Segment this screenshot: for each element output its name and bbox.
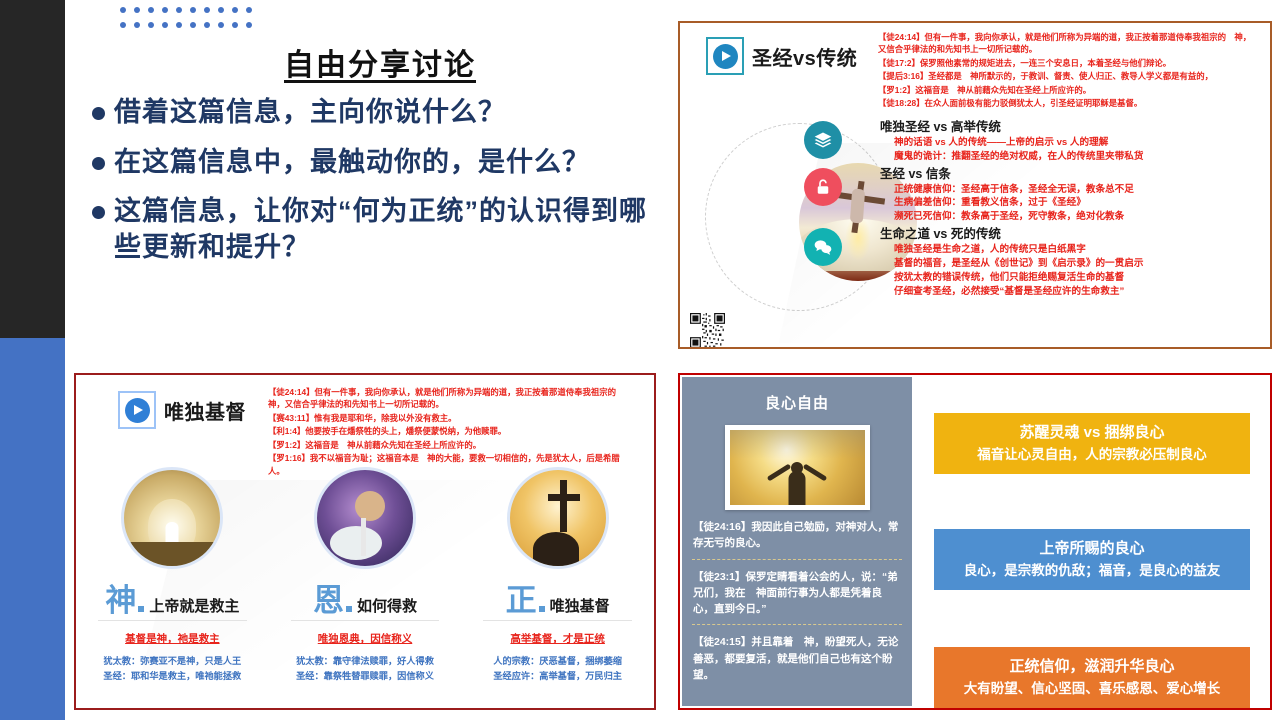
- divider: [483, 620, 632, 621]
- doctrine-detail-line: 圣经：耶和华是救主，唯祂能拯救: [76, 669, 269, 684]
- decorative-dot: [232, 22, 238, 28]
- doctrine-column: 神上帝就是救主基督是神，祂是救主犹太教：弥赛亚不是神，只是人王圣经：耶和华是救主…: [76, 467, 269, 684]
- callout-group: 苏醒灵魂 vs 捆绑良心福音让心灵自由，人的宗教必压制良心上帝所赐的良心良心，是…: [914, 377, 1268, 706]
- doctrine-big-char: 神: [105, 585, 136, 616]
- doctrine-detail-line: 圣经应许：高举基督，万民归主: [461, 669, 654, 684]
- verse-line: 【徒24:16】我因此自己勉励，对神对人，常存无亏的良心。: [682, 510, 912, 559]
- comparison-item-list: 唯独圣经 vs 高举传统神的话语 vs 人的传统——上帝的启示 vs 人的理解魔…: [880, 119, 1272, 301]
- comparison-item: 唯独圣经 vs 高举传统神的话语 vs 人的传统——上帝的启示 vs 人的理解魔…: [880, 119, 1272, 164]
- doctrine-caption: 神上帝就是救主: [76, 585, 269, 616]
- comparison-item-title: 生命之道 vs 死的传统: [880, 226, 1272, 243]
- decorative-dot: [162, 22, 168, 28]
- comparison-line: 魔鬼的诡计：推翻圣经的绝对权威，在人的传统里夹带私货: [894, 150, 1272, 164]
- panel-freedom-of-conscience: 良心自由 【徒24:16】我因此自己勉励，对神对人，常存无亏的良心。【徒23:1…: [678, 373, 1272, 710]
- panel-title: 良心自由: [682, 377, 912, 413]
- doctrine-big-char: 恩: [313, 585, 344, 616]
- panel-scripture-vs-tradition: 圣经vs传统 【徒24:14】但有一件事，我向你承认，就是他们所称为异端的道，我…: [678, 21, 1272, 349]
- sidebar-dark-band: [0, 0, 65, 338]
- divider: [291, 620, 440, 621]
- decorative-dot: [162, 7, 168, 13]
- comparison-line: 正统健康信仰：圣经高于信条，圣经全无误，教条总不足: [894, 183, 1272, 197]
- verse-line: 【徒17:2】保罗照他素常的规矩进去，一连三个安息日，本着圣经与他们辩论。: [878, 57, 1256, 69]
- empty-tomb-photo: [121, 467, 223, 569]
- panel-christ-alone: 唯独基督 【徒24:14】但有一件事，我向你承认，就是他们所称为异端的道，我正按…: [74, 373, 656, 710]
- three-column-group: 神上帝就是救主基督是神，祂是救主犹太教：弥赛亚不是神，只是人王圣经：耶和华是救主…: [76, 467, 654, 684]
- decorative-dot: [148, 22, 154, 28]
- callout-title: 上帝所赐的良心: [940, 538, 1244, 561]
- comparison-line: 神的话语 vs 人的传统——上帝的启示 vs 人的理解: [894, 136, 1272, 150]
- doctrine-big-char: 正: [506, 585, 537, 616]
- decorative-dot: [176, 7, 182, 13]
- comparison-line: 濒死已死信仰：教条高于圣经，死守教条，绝对化教条: [894, 210, 1272, 224]
- comparison-line: 按犹太教的错误传统，他们只能拒绝赐复活生命的基督: [894, 271, 1272, 285]
- doctrine-detail-lines: 人的宗教：厌恶基督，捆绑萎缩圣经应许：高举基督，万民归主: [461, 654, 654, 684]
- verse-line: 【罗1:2】这福音是 神从前藉众先知在圣经上所应许的。: [268, 439, 636, 451]
- doctrine-detail-line: 人的宗教：厌恶基督，捆绑萎缩: [461, 654, 654, 669]
- kneeling-at-cross-photo: [507, 467, 609, 569]
- decorative-dot: [204, 7, 210, 13]
- decorative-dot: [204, 22, 210, 28]
- decorative-dot: [246, 7, 252, 13]
- bullet-list: 借着这篇信息，主向你说什么？ 在这篇信息中，最触动你的，是什么？ 这篇信息，让你…: [92, 95, 652, 280]
- panel-header: 圣经vs传统: [706, 37, 857, 75]
- panel-header: 唯独基督: [118, 391, 246, 429]
- callout-title: 正统信仰，滋润升华良心: [940, 656, 1244, 679]
- verse-line: 【赛43:11】惟有我是耶和华，除我以外没有救主。: [268, 412, 636, 424]
- verse-line: 【利1:4】他要按手在燔祭牲的头上，燔祭便蒙悦纳，为他赎罪。: [268, 425, 636, 437]
- verse-line: 【徒24:15】并且靠着 神，盼望死人，无论善恶，都要复活，就是他们自己也有这个…: [682, 625, 912, 690]
- verse-line: 【徒24:14】但有一件事，我向你承认，就是他们所称为异端的道，我正按着那道侍奉…: [878, 31, 1256, 56]
- square-bullet-icon: [138, 606, 144, 612]
- square-bullet-icon: [539, 606, 545, 612]
- comparison-item-title: 唯独圣经 vs 高举传统: [880, 119, 1272, 136]
- bullet-text: 在这篇信息中，最触动你的，是什么？: [114, 145, 590, 181]
- doctrine-detail-lines: 犹太教：靠守律法赎罪，好人得救圣经：靠祭牲替罪赎罪，因信称义: [269, 654, 462, 684]
- doctrine-highlight: 唯独恩典，因信称义: [269, 631, 462, 646]
- layers-icon: [804, 121, 842, 159]
- unlock-icon: [804, 168, 842, 206]
- doctrine-caption: 恩如何得救: [269, 585, 462, 616]
- doctrine-detail-lines: 犹太教：弥赛亚不是神，只是人王圣经：耶和华是救主，唯祂能拯救: [76, 654, 269, 684]
- play-button-icon: [706, 37, 744, 75]
- comparison-line: 唯独圣经是生命之道，人的传统只是白纸黑字: [894, 243, 1272, 257]
- doctrine-detail-line: 犹太教：靠守律法赎罪，好人得救: [269, 654, 462, 669]
- doctrine-subtitle: 唯独基督: [550, 595, 610, 616]
- page-title: 自由分享讨论: [120, 40, 640, 84]
- square-bullet-icon: [346, 606, 352, 612]
- slide-canvas: 自由分享讨论 借着这篇信息，主向你说什么？ 在这篇信息中，最触动你的，是什么？ …: [0, 0, 1280, 720]
- comparison-line: 生病偏差信仰：重看教义信条，过于《圣经》: [894, 196, 1272, 210]
- verse-line: 【提后3:16】圣经都是 神所默示的，于教训、督责、使人归正、教导人学义都是有益…: [878, 70, 1256, 82]
- bullet-text: 这篇信息，让你对“何为正统”的认识得到哪些更新和提升？: [114, 194, 652, 265]
- doctrine-subtitle: 上帝就是救主: [149, 595, 239, 616]
- decorative-dot: [134, 7, 140, 13]
- verse-line: 【徒24:14】但有一件事，我向你承认，就是他们所称为异端的道，我正按着那道侍奉…: [268, 386, 636, 411]
- comparison-item-lines: 神的话语 vs 人的传统——上帝的启示 vs 人的理解魔鬼的诡计：推翻圣经的绝对…: [880, 136, 1272, 164]
- decorative-dot: [120, 22, 126, 28]
- sidebar-blue-band: [0, 338, 65, 720]
- decorative-dot: [232, 7, 238, 13]
- decorative-dot: [218, 22, 224, 28]
- verse-block: 【徒24:16】我因此自己勉励，对神对人，常存无亏的良心。【徒23:1】保罗定睛…: [682, 510, 912, 690]
- bullet-text: 借着这篇信息，主向你说什么？: [114, 95, 506, 131]
- comparison-item: 生命之道 vs 死的传统唯独圣经是生命之道，人的传统只是白纸黑字基督的福音，是圣…: [880, 226, 1272, 299]
- decorative-dot: [176, 22, 182, 28]
- callout-subtitle: 良心，是宗教的仇敌；福音，是良心的益友: [940, 561, 1244, 581]
- comparison-item: 圣经 vs 信条正统健康信仰：圣经高于信条，圣经全无误，教条总不足生病偏差信仰：…: [880, 166, 1272, 225]
- verse-block: 【徒24:14】但有一件事，我向你承认，就是他们所称为异端的道，我正按着那道侍奉…: [878, 31, 1256, 111]
- crucifixion-lamb-photo: [314, 467, 416, 569]
- comparison-item-title: 圣经 vs 信条: [880, 166, 1272, 183]
- doctrine-detail-line: 圣经：靠祭牲替罪赎罪，因信称义: [269, 669, 462, 684]
- doctrine-highlight: 高举基督，才是正统: [461, 631, 654, 646]
- decorative-dot: [120, 7, 126, 13]
- decorative-dot: [148, 7, 154, 13]
- decorative-dot: [218, 7, 224, 13]
- panel-title: 唯独基督: [164, 396, 246, 425]
- comparison-line: 基督的福音，是圣经从《创世记》到《启示录》的一贯启示: [894, 257, 1272, 271]
- comparison-item-lines: 唯独圣经是生命之道，人的传统只是白纸黑字基督的福音，是圣经从《创世记》到《启示录…: [880, 243, 1272, 299]
- list-item: 借着这篇信息，主向你说什么？: [92, 95, 652, 131]
- decorative-dot: [190, 22, 196, 28]
- play-button-icon: [118, 391, 156, 429]
- panel-title: 圣经vs传统: [752, 42, 857, 71]
- doctrine-column: 正唯独基督高举基督，才是正统人的宗教：厌恶基督，捆绑萎缩圣经应许：高举基督，万民…: [461, 467, 654, 684]
- bullet-dot-icon: [92, 157, 105, 170]
- callout-subtitle: 大有盼望、信心坚固、喜乐感恩、爱心增长: [940, 679, 1244, 699]
- doctrine-column: 恩如何得救唯独恩典，因信称义犹太教：靠守律法赎罪，好人得救圣经：靠祭牲替罪赎罪，…: [269, 467, 462, 684]
- callout-box: 上帝所赐的良心良心，是宗教的仇敌；福音，是良心的益友: [934, 529, 1250, 590]
- bullet-dot-icon: [92, 107, 105, 120]
- person-arms-raised-sunrise-photo: [725, 425, 870, 510]
- callout-subtitle: 福音让心灵自由，人的宗教必压制良心: [940, 445, 1244, 465]
- divider: [98, 620, 247, 621]
- verse-block: 【徒24:14】但有一件事，我向你承认，就是他们所称为异端的道，我正按着那道侍奉…: [268, 386, 636, 478]
- callout-box: 正统信仰，滋润升华良心大有盼望、信心坚固、喜乐感恩、爱心增长: [934, 647, 1250, 708]
- list-item: 这篇信息，让你对“何为正统”的认识得到哪些更新和提升？: [92, 194, 652, 265]
- callout-title: 苏醒灵魂 vs 捆绑良心: [940, 422, 1244, 445]
- list-item: 在这篇信息中，最触动你的，是什么？: [92, 145, 652, 181]
- doctrine-subtitle: 如何得救: [357, 595, 417, 616]
- qr-code-icon: [690, 313, 725, 348]
- bullet-dot-icon: [92, 206, 105, 219]
- verse-line: 【徒23:1】保罗定睛看着公会的人，说：“弟兄们，我在 神面前行事为人都是凭着良…: [682, 560, 912, 625]
- comparison-line: 仔细查考圣经，必然接受“基督是圣经应许的生命救主”: [894, 285, 1272, 299]
- doctrine-caption: 正唯独基督: [461, 585, 654, 616]
- dotted-decoration: [120, 7, 254, 37]
- conscience-sidebar: 良心自由 【徒24:16】我因此自己勉励，对神对人，常存无亏的良心。【徒23:1…: [682, 377, 912, 706]
- decorative-dot: [190, 7, 196, 13]
- callout-box: 苏醒灵魂 vs 捆绑良心福音让心灵自由，人的宗教必压制良心: [934, 413, 1250, 474]
- verse-line: 【罗1:2】这福音是 神从前藉众先知在圣经上所应许的。: [878, 84, 1256, 96]
- doctrine-highlight: 基督是神，祂是救主: [76, 631, 269, 646]
- decorative-dot: [134, 22, 140, 28]
- comparison-item-lines: 正统健康信仰：圣经高于信条，圣经全无误，教条总不足生病偏差信仰：重看教义信条，过…: [880, 183, 1272, 225]
- verse-line: 【徒18:28】在众人面前极有能力驳倒犹太人，引圣经证明耶稣是基督。: [878, 97, 1256, 109]
- doctrine-detail-line: 犹太教：弥赛亚不是神，只是人王: [76, 654, 269, 669]
- decorative-dot: [246, 22, 252, 28]
